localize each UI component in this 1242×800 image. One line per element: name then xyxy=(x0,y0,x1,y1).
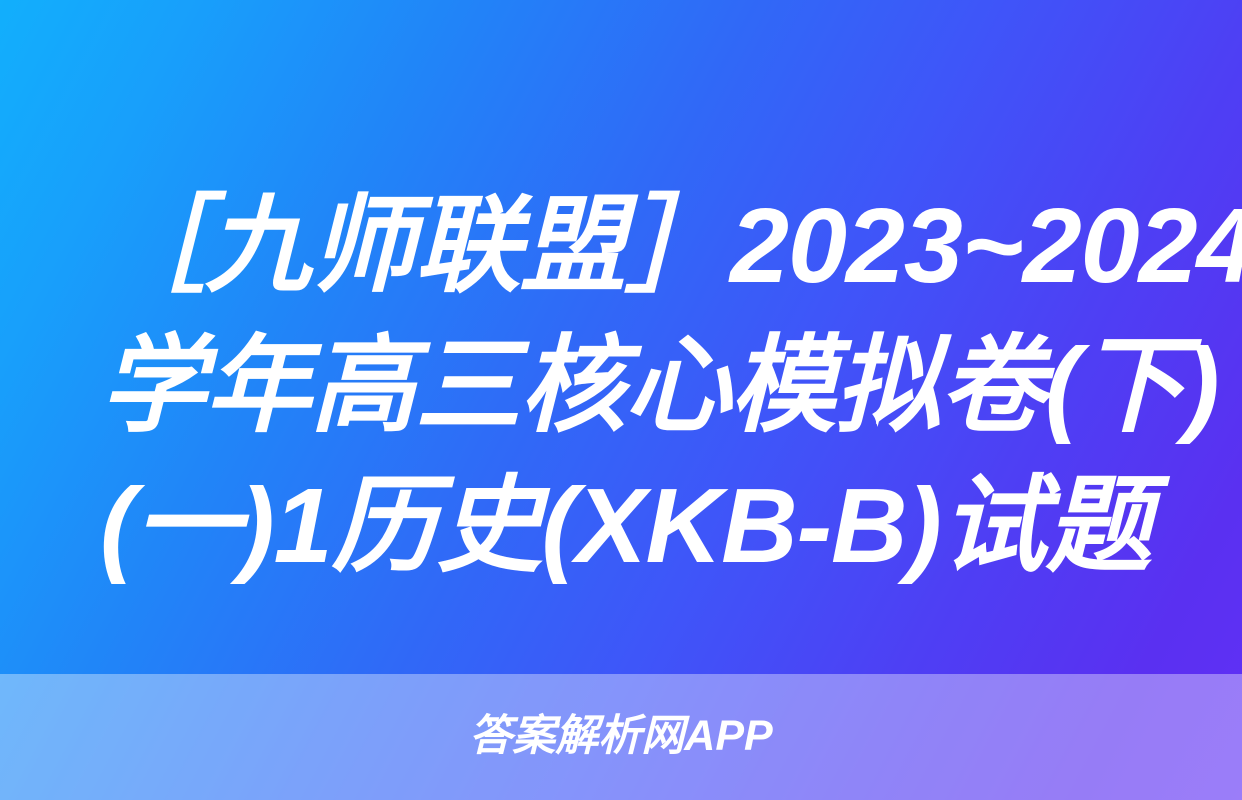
title-line-3: (一)1历史(XKB-B)试题 xyxy=(100,456,1160,596)
title-line-2: 学年高三核心模拟卷(下) xyxy=(100,316,1160,456)
title-line-1: ［九师联盟］2023~2024 xyxy=(100,176,1160,316)
page-title: ［九师联盟］2023~2024 学年高三核心模拟卷(下) (一)1历史(XKB-… xyxy=(100,176,1160,596)
app-watermark-label: 答案解析网APP xyxy=(469,715,772,758)
exam-paper-cover-poster: ［九师联盟］2023~2024 学年高三核心模拟卷(下) (一)1历史(XKB-… xyxy=(0,0,1242,800)
footer-watermark-band: 答案解析网APP xyxy=(0,674,1242,800)
